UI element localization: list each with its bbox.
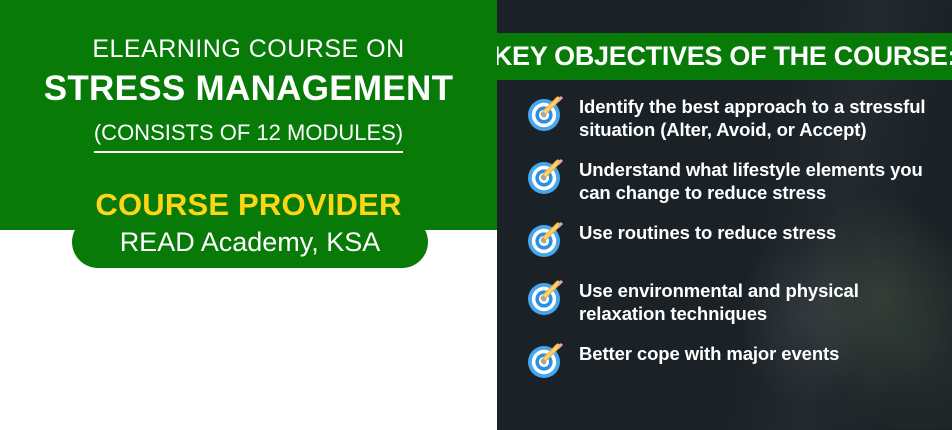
objective-item: Better cope with major events — [525, 339, 945, 383]
objective-text: Understand what lifestyle elements you c… — [579, 155, 945, 204]
modules-note: (CONSISTS OF 12 MODULES) — [94, 120, 403, 153]
right-dark-panel: KEY OBJECTIVES OF THE COURSE: — [497, 0, 952, 430]
objectives-header-title: KEY OBJECTIVES OF THE COURSE: — [497, 41, 952, 72]
objective-text: Use routines to reduce stress — [579, 218, 836, 245]
provider-name: READ Academy, KSA — [120, 227, 381, 258]
target-dartboard-icon — [525, 276, 567, 318]
logo-row: READ Academy and the FORCE is with you — [0, 276, 497, 430]
objective-item: Use environmental and physical relaxatio… — [525, 276, 945, 325]
target-dartboard-icon — [525, 92, 567, 134]
objectives-header-band: KEY OBJECTIVES OF THE COURSE: — [497, 33, 952, 80]
objectives-list: Identify the best approach to a stressfu… — [525, 92, 945, 397]
objective-item: Use routines to reduce stress — [525, 218, 945, 262]
target-dartboard-icon — [525, 155, 567, 197]
modules-note-wrapper: (CONSISTS OF 12 MODULES) — [0, 120, 497, 153]
course-promo-banner: ELEARNING COURSE ON STRESS MANAGEMENT (C… — [0, 0, 952, 430]
target-dartboard-icon — [525, 218, 567, 260]
course-intro-line: ELEARNING COURSE ON — [0, 35, 497, 64]
course-title: STRESS MANAGEMENT — [0, 69, 497, 109]
objective-text: Identify the best approach to a stressfu… — [579, 92, 945, 141]
objective-text: Use environmental and physical relaxatio… — [579, 276, 945, 325]
provider-name-pill: READ Academy, KSA — [72, 216, 428, 268]
objective-item: Identify the best approach to a stressfu… — [525, 92, 945, 141]
left-green-panel: ELEARNING COURSE ON STRESS MANAGEMENT (C… — [0, 0, 497, 230]
objective-text: Better cope with major events — [579, 339, 839, 366]
target-dartboard-icon — [525, 339, 567, 381]
objective-item: Understand what lifestyle elements you c… — [525, 155, 945, 204]
